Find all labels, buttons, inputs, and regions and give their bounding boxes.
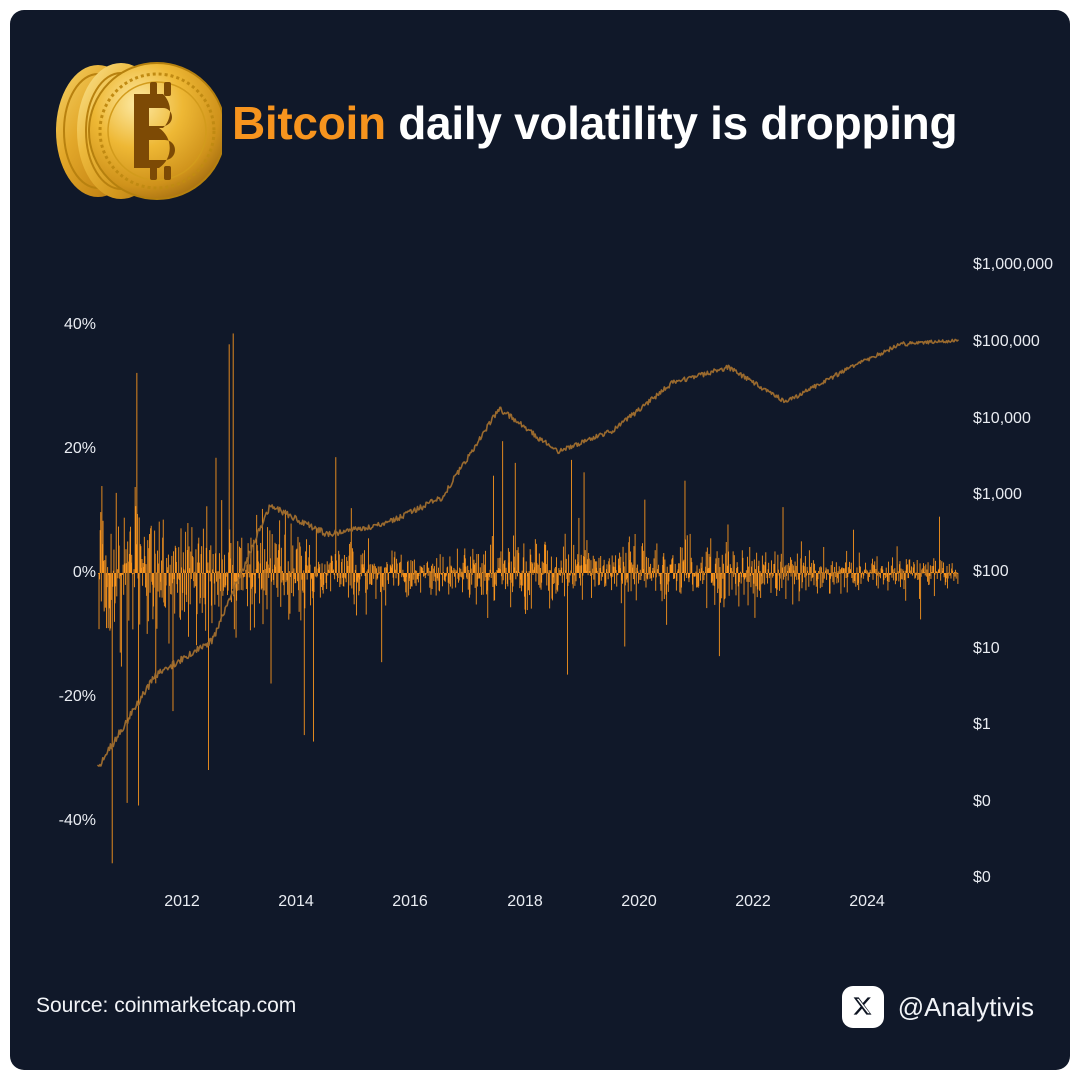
y-tick-right: $1 <box>973 717 991 733</box>
header: Bitcoin daily volatility is dropping <box>10 10 1070 215</box>
y-tick-left: 40% <box>64 317 96 333</box>
y-tick-right: $1,000 <box>973 487 1022 503</box>
chart-area: 40%20%0%-20%-40% $1,000,000$100,000$10,0… <box>10 215 1070 915</box>
y-tick-left: -40% <box>59 813 96 829</box>
bitcoin-coins-icon <box>42 52 222 210</box>
y-tick-right: $100,000 <box>973 334 1040 350</box>
x-logo-icon[interactable] <box>842 986 884 1028</box>
y-tick-left: 0% <box>73 565 96 581</box>
x-tick: 2012 <box>164 894 200 910</box>
y-tick-right: $0 <box>973 794 991 810</box>
y-tick-right: $0 <box>973 870 991 886</box>
x-tick: 2024 <box>849 894 885 910</box>
title-accent: Bitcoin <box>232 97 386 149</box>
page-title: Bitcoin daily volatility is dropping <box>232 96 957 150</box>
x-tick: 2020 <box>621 894 657 910</box>
y-tick-left: 20% <box>64 441 96 457</box>
poster-card: Bitcoin daily volatility is dropping 40%… <box>10 10 1070 1070</box>
title-rest: daily volatility is dropping <box>386 97 958 149</box>
footer: Source: coinmarketcap.com @Analytivis <box>10 950 1070 1070</box>
source-note: Source: coinmarketcap.com <box>36 994 296 1018</box>
y-tick-right: $10 <box>973 641 1000 657</box>
volatility-plot <box>10 215 1070 915</box>
y-tick-right: $1,000,000 <box>973 257 1053 273</box>
volatility-bars <box>98 333 958 863</box>
handle-text: @Analytivis <box>898 992 1034 1023</box>
btc-price-line <box>98 339 958 766</box>
social-handle[interactable]: @Analytivis <box>842 986 1034 1028</box>
y-tick-right: $100 <box>973 564 1009 580</box>
x-tick: 2014 <box>278 894 314 910</box>
x-tick: 2016 <box>392 894 428 910</box>
x-tick: 2018 <box>507 894 543 910</box>
y-tick-left: -20% <box>59 689 96 705</box>
y-tick-right: $10,000 <box>973 411 1031 427</box>
x-tick: 2022 <box>735 894 771 910</box>
